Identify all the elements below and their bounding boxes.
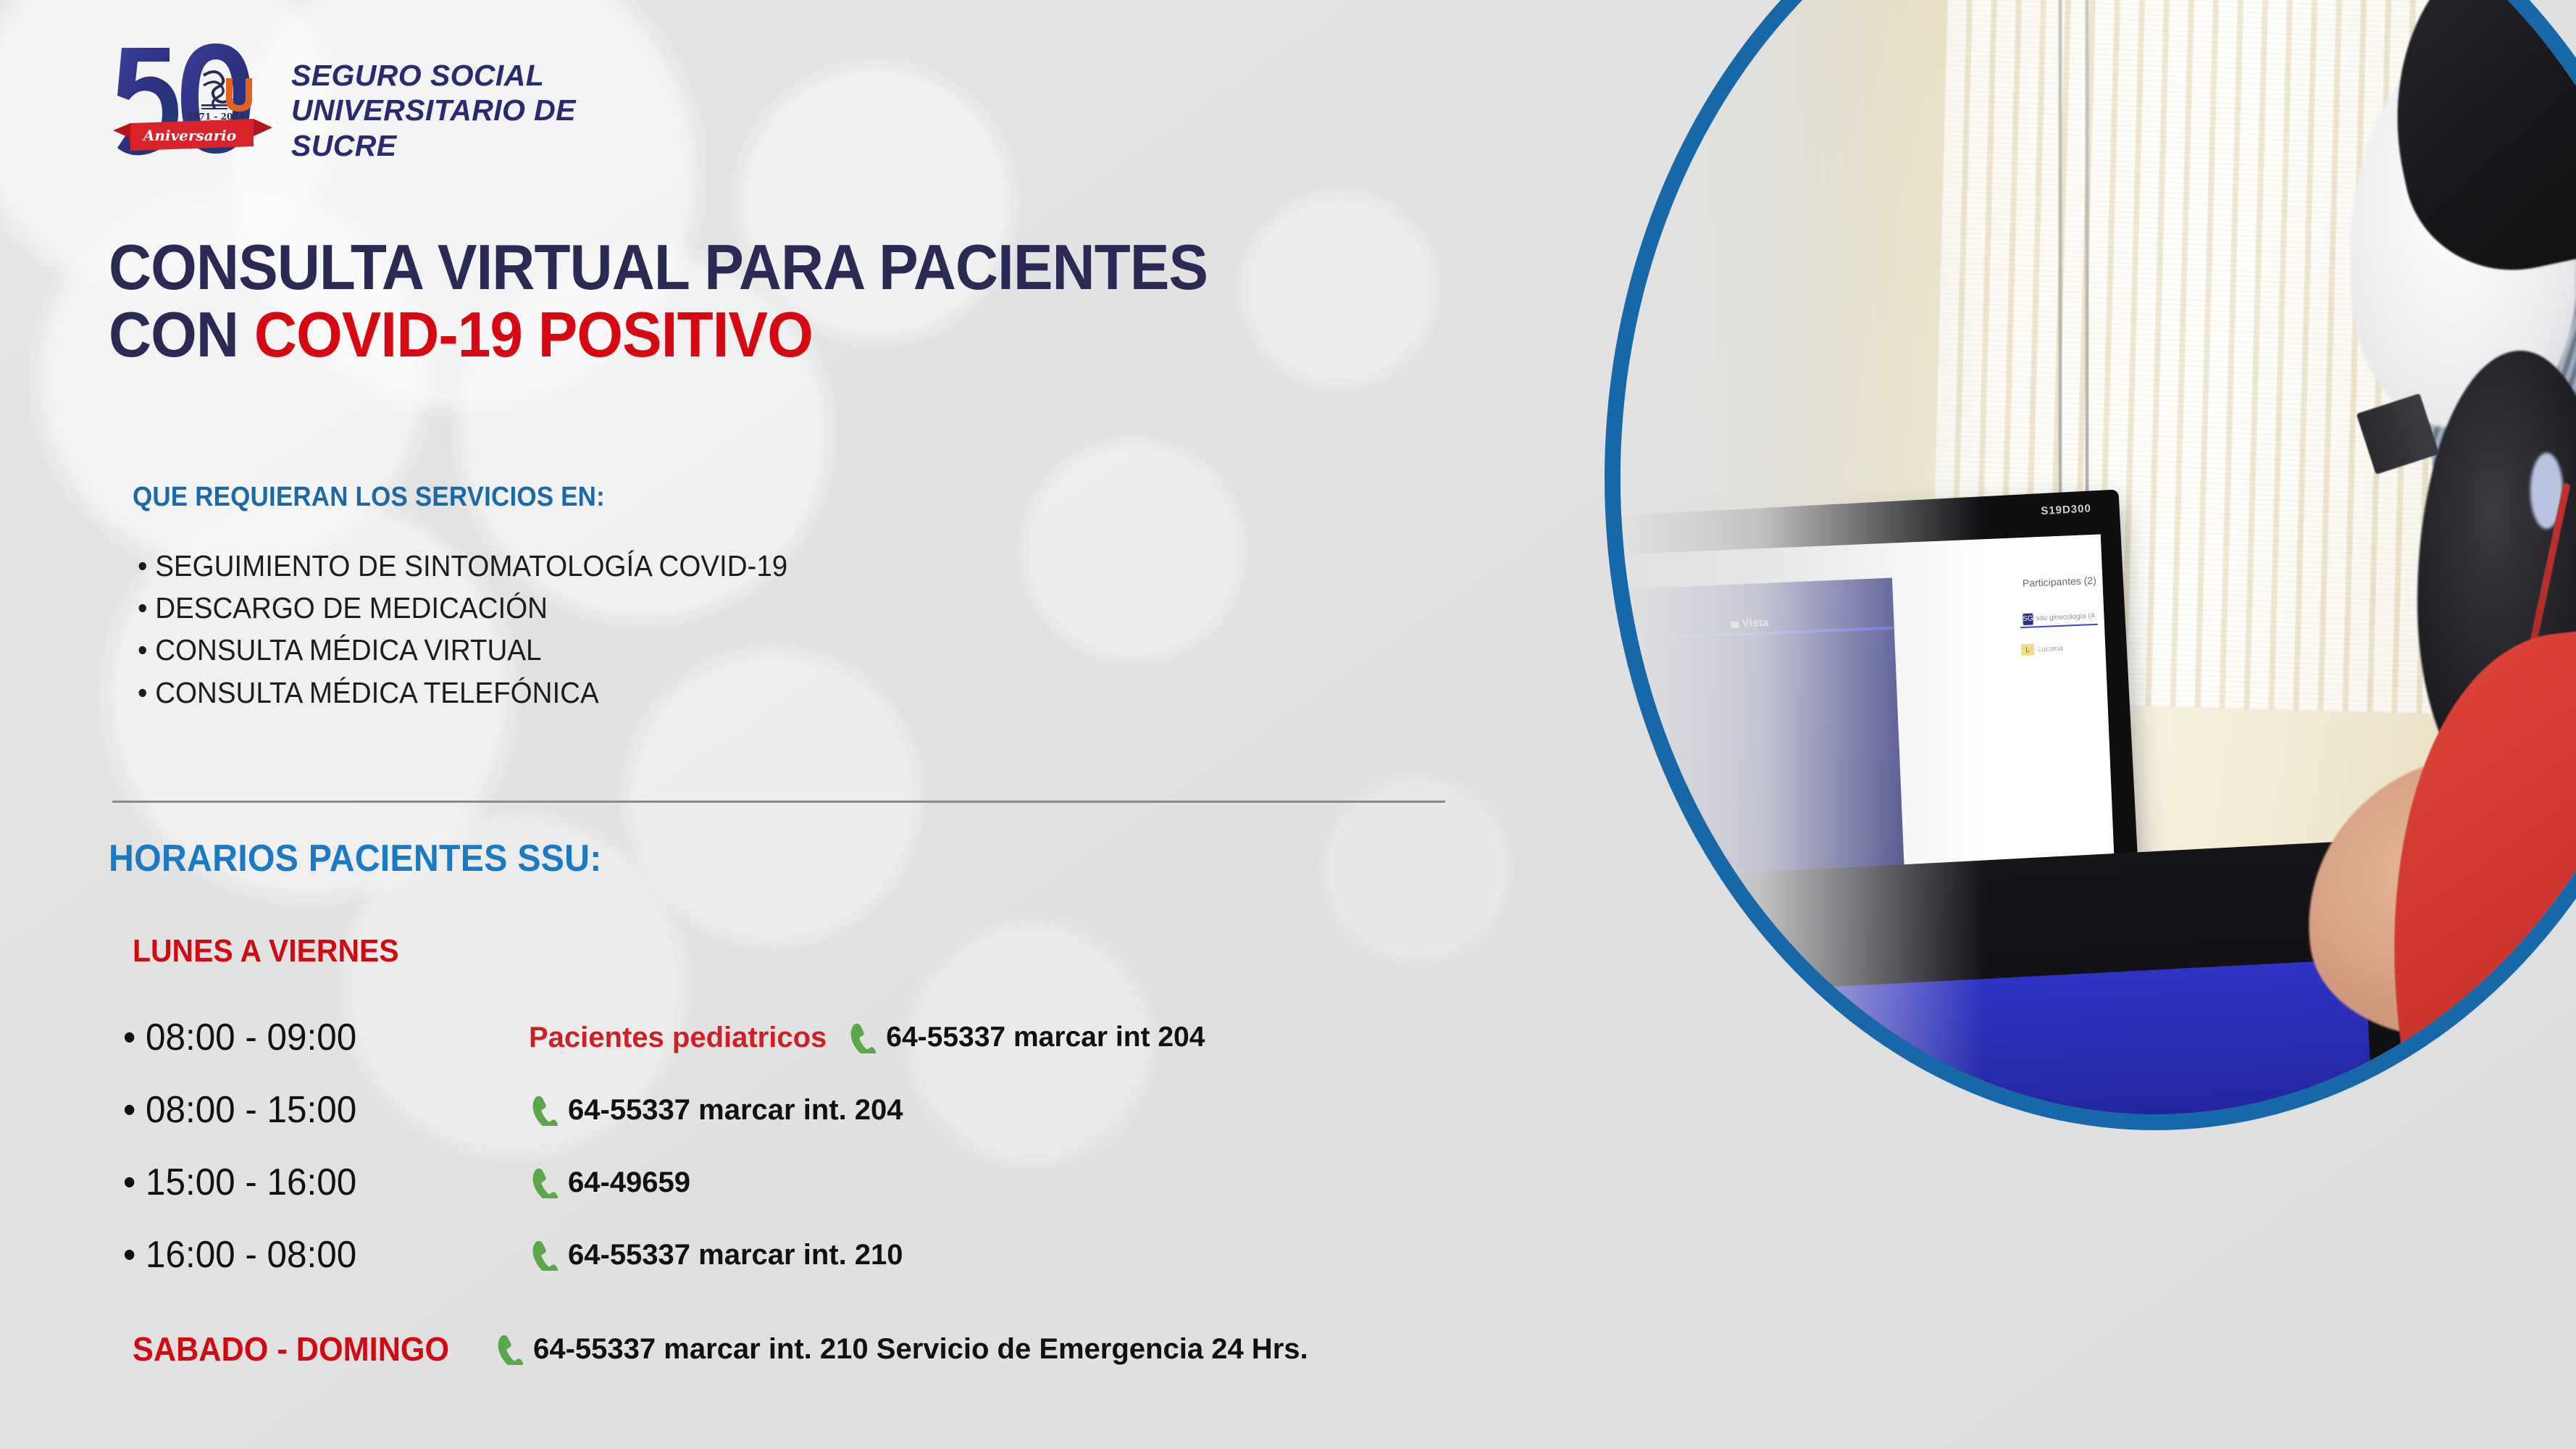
host-name: ssu ginecologia (Anfitrión, yo)	[2036, 612, 2094, 622]
participant-row[interactable]: L Luciana	[2021, 640, 2099, 657]
phone-entry[interactable]: 64-55337 marcar int 204	[847, 1022, 1205, 1053]
red-scrubs	[2360, 611, 2576, 1114]
section-divider	[112, 801, 1445, 803]
weekend-row: SABADO - DOMINGO 64-55337 marcar int. 21…	[133, 1329, 1308, 1369]
list-item: SEGUIMIENTO DE SINTOMATOLOGÍA COVID-19	[138, 545, 787, 587]
host-avatar: SG	[2023, 613, 2033, 625]
list-item: CONSULTA MÉDICA TELEFÓNICA	[138, 672, 787, 714]
photo-left-fade	[1621, 0, 1984, 1114]
phone-icon	[529, 1239, 558, 1271]
list-item: DESCARGO DE MEDICACIÓN	[138, 587, 787, 629]
schedule-time: 08:00 - 15:00	[123, 1088, 509, 1132]
hero-photo-circle: S19D300 Vista Finalizar Reacciones	[1605, 0, 2576, 1130]
table-row: 15:00 - 16:00 64-49659	[123, 1146, 1572, 1219]
weekday-label: LUNES A VIERNES	[133, 933, 399, 969]
hero-photo: S19D300 Vista Finalizar Reacciones	[1621, 0, 2576, 1114]
phone-icon	[847, 1022, 876, 1053]
phone-number: 64-55337 marcar int. 210 Servicio de Eme…	[533, 1333, 1308, 1366]
poster-canvas: S19D300 Vista Finalizar Reacciones	[0, 0, 2576, 1449]
phone-icon	[529, 1094, 558, 1126]
phone-number: 64-55337 marcar int 204	[886, 1022, 1205, 1053]
participant-search-field[interactable]: SG ssu ginecologia (Anfitrión, yo)	[2020, 609, 2098, 627]
participant-avatar: L	[2021, 643, 2035, 656]
schedule-heading: HORARIOS PACIENTES SSU:	[109, 837, 601, 880]
phone-entry[interactable]: 64-49659	[529, 1166, 690, 1199]
title-line-2-prefix: CON	[109, 298, 254, 370]
weekend-label: SABADO - DOMINGO	[133, 1329, 449, 1369]
org-line-1: SEGURO SOCIAL	[291, 58, 659, 93]
phone-icon	[494, 1333, 523, 1365]
participant-name: Luciana	[2038, 644, 2063, 653]
phone-number: 64-55337 marcar int. 204	[568, 1094, 903, 1127]
aniversario-ribbon: Aniversario	[113, 119, 272, 151]
list-item: CONSULTA MÉDICA VIRTUAL	[138, 629, 787, 671]
person-with-headset	[2112, 0, 2576, 1114]
page-title: CONSULTA VIRTUAL PARA PACIENTES CON COVI…	[109, 233, 1208, 369]
schedule-time: 16:00 - 08:00	[123, 1233, 509, 1277]
schedule-list: 08:00 - 09:00 Pacientes pediatricos 64-5…	[123, 1001, 1572, 1291]
phone-number: 64-55337 marcar int. 210	[568, 1239, 903, 1271]
table-row: 16:00 - 08:00 64-55337 marcar int. 210	[123, 1219, 1572, 1291]
org-name: SEGURO SOCIAL UNIVERSITARIO DE SUCRE	[291, 58, 659, 163]
phone-entry[interactable]: 64-55337 marcar int. 210	[529, 1239, 903, 1271]
table-row: 08:00 - 15:00 64-55337 marcar int. 204	[123, 1074, 1572, 1146]
title-line-2-highlight: COVID-19 POSITIVO	[254, 298, 813, 370]
anniversary-50-logo-icon: 1971 - 2021 Aniversario	[109, 38, 275, 164]
table-row: 08:00 - 09:00 Pacientes pediatricos 64-5…	[123, 1001, 1572, 1074]
schedule-time: 08:00 - 09:00	[123, 1016, 509, 1059]
schedule-time: 15:00 - 16:00	[123, 1161, 509, 1204]
monitor-model-label: S19D300	[2041, 503, 2091, 518]
services-heading: QUE REQUIERAN LOS SERVICIOS EN:	[133, 482, 605, 513]
org-line-2: UNIVERSITARIO DE SUCRE	[291, 93, 659, 163]
title-line-1: CONSULTA VIRTUAL PARA PACIENTES	[109, 231, 1208, 303]
services-list: SEGUIMIENTO DE SINTOMATOLOGÍA COVID-19 D…	[138, 545, 787, 714]
pediatric-note: Pacientes pediatricos	[529, 1022, 827, 1054]
phone-icon	[529, 1166, 558, 1198]
participants-title: Participantes (2)	[2023, 574, 2097, 588]
phone-entry[interactable]: 64-55337 marcar int. 210 Servicio de Eme…	[494, 1333, 1308, 1366]
phone-number: 64-49659	[568, 1166, 690, 1199]
brand-logo: 1971 - 2021 Aniversario SEGURO SOCIAL UN…	[109, 38, 659, 168]
ribbon-label: Aniversario	[142, 127, 236, 144]
phone-entry[interactable]: 64-55337 marcar int. 204	[529, 1094, 903, 1127]
